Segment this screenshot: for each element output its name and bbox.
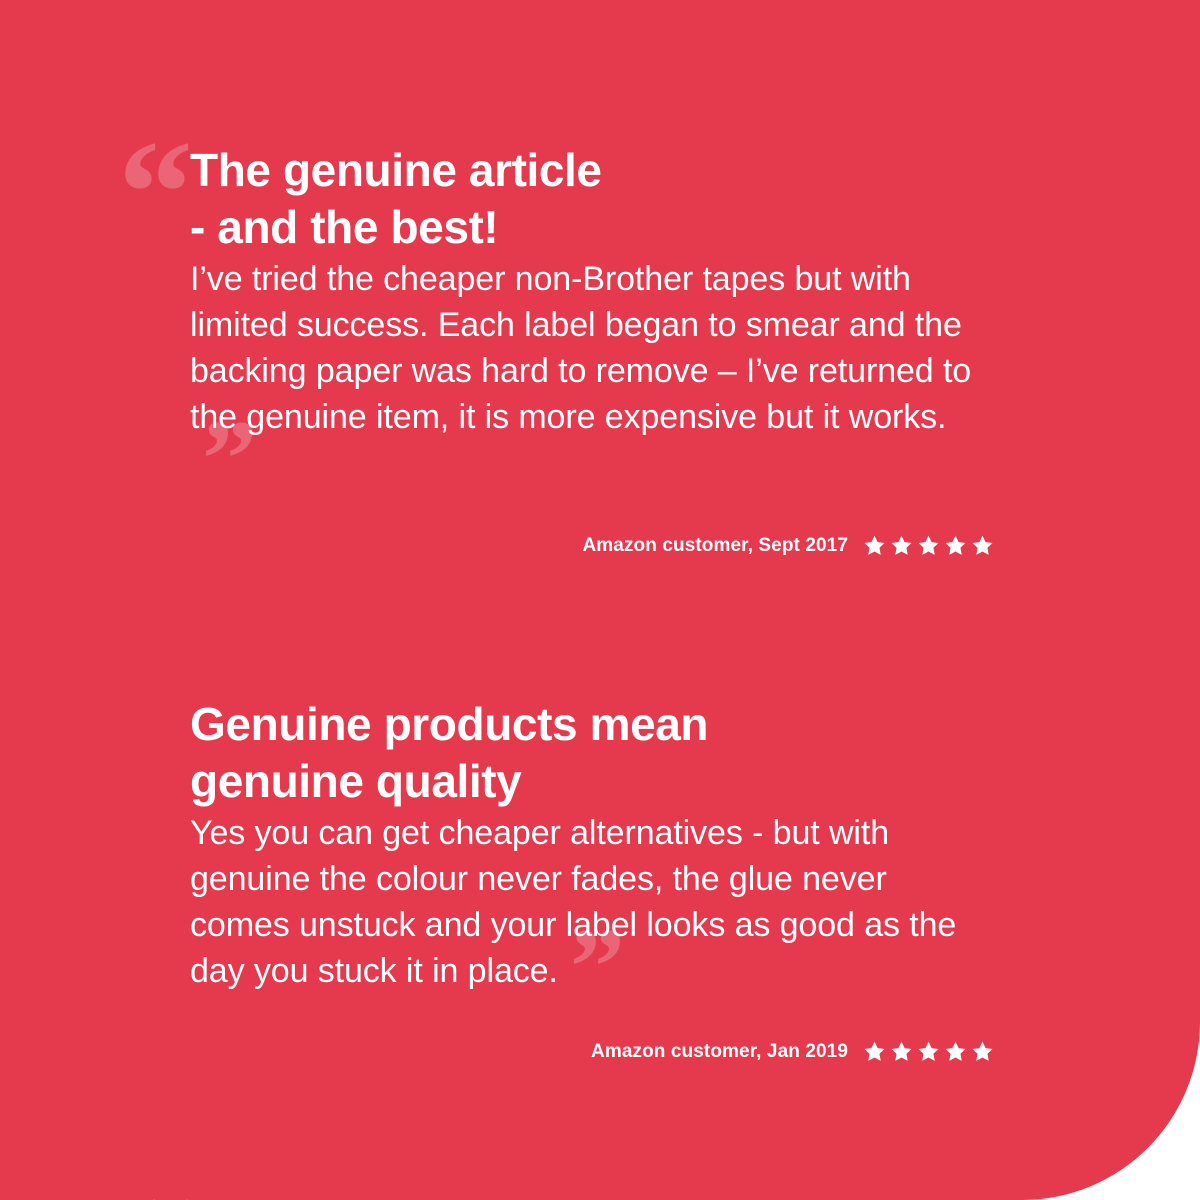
testimonial-item: “ The genuine article- and the best! I’v… bbox=[0, 0, 1200, 558]
open-quote-icon: “ bbox=[118, 1174, 189, 1200]
testimonial-body: The genuine article- and the best! I’ve … bbox=[190, 142, 995, 486]
testimonial-text: I’ve tried the cheaper non-Brother tapes… bbox=[190, 256, 995, 486]
star-icon bbox=[970, 1040, 995, 1064]
testimonial-attribution: Amazon customer, Sept 2017 bbox=[190, 534, 995, 558]
star-icon bbox=[943, 1040, 968, 1064]
testimonial-heading-line-1: The genuine article bbox=[190, 144, 602, 196]
rating-stars bbox=[862, 534, 995, 558]
star-icon bbox=[970, 534, 995, 558]
testimonial-heading: The genuine article- and the best! bbox=[190, 142, 995, 256]
star-icon bbox=[943, 534, 968, 558]
star-icon bbox=[889, 534, 914, 558]
testimonial-attribution: Amazon customer, Jan 2019 bbox=[190, 1040, 995, 1064]
star-icon bbox=[862, 1040, 887, 1064]
star-icon bbox=[916, 534, 941, 558]
testimonial-text: Yes you can get cheaper alternatives - b… bbox=[190, 810, 995, 994]
testimonial-card: “ The genuine article- and the best! I’v… bbox=[0, 0, 1200, 1200]
testimonial-heading-line-2: genuine quality bbox=[190, 755, 521, 807]
attribution-name: Amazon customer, Jan 2019 bbox=[591, 1041, 848, 1063]
testimonial-body: Genuine products meangenuine quality Yes… bbox=[190, 696, 995, 994]
rating-stars bbox=[862, 1040, 995, 1064]
testimonial-item: “ Genuine products meangenuine quality Y… bbox=[0, 558, 1200, 1064]
testimonial-list: “ The genuine article- and the best! I’v… bbox=[0, 0, 1200, 1064]
testimonial-heading-line-2: - and the best! bbox=[190, 201, 498, 253]
star-icon bbox=[862, 534, 887, 558]
attribution-name: Amazon customer, Sept 2017 bbox=[582, 535, 848, 557]
testimonial-heading-line-1: Genuine products mean bbox=[190, 698, 708, 750]
star-icon bbox=[916, 1040, 941, 1064]
testimonial-heading: Genuine products meangenuine quality bbox=[190, 696, 995, 810]
open-quote-icon: “ bbox=[118, 118, 189, 268]
testimonial-text-content: I’ve tried the cheaper non-Brother tapes… bbox=[190, 260, 971, 436]
star-icon bbox=[889, 1040, 914, 1064]
